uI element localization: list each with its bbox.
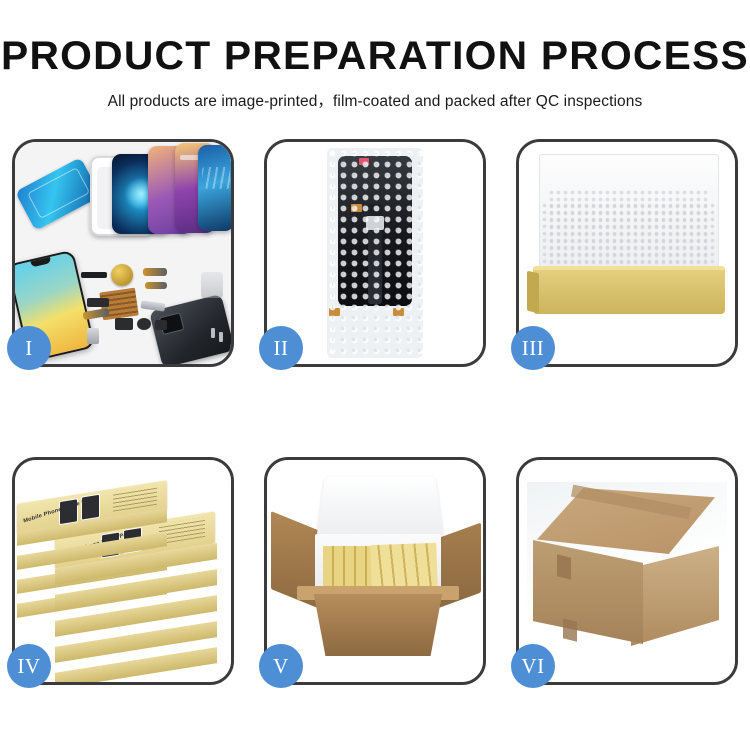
yellow-box-body <box>533 270 725 314</box>
part-connector-icon <box>87 298 109 307</box>
part-camera-module-icon <box>115 318 133 330</box>
step-badge-1: I <box>7 326 51 370</box>
tweezers-icon <box>201 272 223 298</box>
box-side-flap <box>527 271 539 314</box>
screw-2-icon <box>219 332 223 342</box>
step-badge-6: VI <box>511 644 555 688</box>
box-text-lines-1 <box>113 485 157 512</box>
part-battery-icon <box>87 328 99 344</box>
step-badge-5: V <box>259 644 303 688</box>
part-vibrator-icon <box>137 318 151 330</box>
blue-lcd-panel-icon <box>15 157 101 231</box>
step-image-3 <box>519 142 735 364</box>
scene-foam-lined-box <box>519 142 735 364</box>
step-card-4[interactable]: Mobile Phone Spare Parts Mobile Phone Sp… <box>12 457 234 685</box>
scene-carton-with-foam-box <box>267 460 483 682</box>
part-flex-cable-icon <box>143 268 167 276</box>
step-card-3[interactable]: III <box>516 139 738 367</box>
screw-icon <box>211 328 215 338</box>
scene-stacked-retail-boxes: Mobile Phone Spare Parts Mobile Phone Sp… <box>15 460 231 682</box>
part-flex-cable-2-icon <box>145 282 167 289</box>
foam-inner-sheet <box>541 202 715 268</box>
part-button-icon <box>155 320 167 330</box>
part-earpiece-icon <box>81 272 107 278</box>
step-image-1 <box>15 142 231 364</box>
step-image-2 <box>267 142 483 364</box>
page-title: PRODUCT PREPARATION PROCESS <box>0 36 750 76</box>
scene-screens-and-parts <box>15 142 231 364</box>
part-metal-bracket-icon <box>141 300 166 311</box>
step-card-1[interactable]: I <box>12 139 234 367</box>
step-card-5[interactable]: V <box>264 457 486 685</box>
step-badge-4: IV <box>7 644 51 688</box>
step-image-6 <box>519 460 735 682</box>
carton-tape-strip-1 <box>557 554 571 579</box>
carton-tape-strip-2 <box>563 618 577 641</box>
product-preparation-process-page: PRODUCT PREPARATION PROCESS All products… <box>0 0 750 750</box>
speaker-module-icon <box>111 264 133 286</box>
step-badge-2: II <box>259 326 303 370</box>
step-card-2[interactable]: II <box>264 139 486 367</box>
yellow-boxes-row-2 <box>370 543 437 589</box>
step-image-5 <box>267 460 483 682</box>
scene-sealed-carton <box>519 460 735 682</box>
header: PRODUCT PREPARATION PROCESS All products… <box>0 0 750 111</box>
bubble-overlay-shadow <box>332 153 422 353</box>
scene-bubble-wrapped-screen <box>267 142 483 364</box>
step-image-4: Mobile Phone Spare Parts Mobile Phone Sp… <box>15 460 231 682</box>
page-subtitle: All products are image-printed，film-coat… <box>0 89 750 111</box>
step-card-6[interactable]: VI <box>516 457 738 685</box>
carton-front-panel <box>305 594 451 656</box>
foam-box-lid <box>316 477 443 537</box>
box-stack: Mobile Phone Spare Parts Mobile Phone Sp… <box>17 470 231 678</box>
step-badge-3: III <box>511 326 555 370</box>
phone-screen-teal-icon <box>198 145 231 231</box>
process-steps-grid: I II <box>12 139 738 685</box>
